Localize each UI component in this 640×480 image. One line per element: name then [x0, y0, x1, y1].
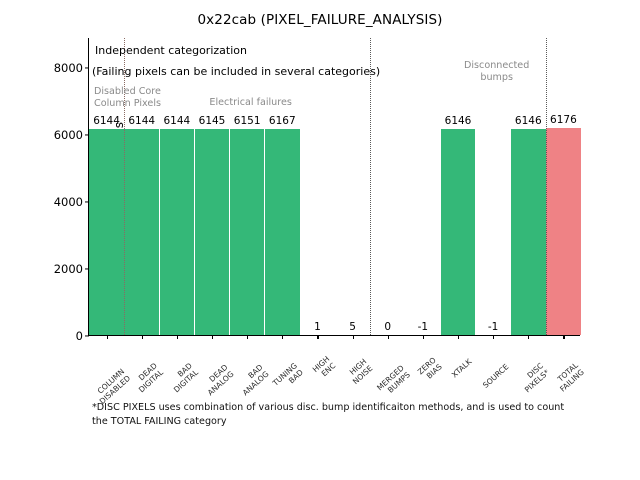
- x-tick-label: MERGEDBUMPS: [376, 364, 413, 399]
- bar-value-label: 6144: [163, 115, 190, 127]
- bar-value-label: 6146: [445, 115, 472, 127]
- bar-disc-pixels[interactable]: [511, 129, 546, 335]
- footnote-line-1: *DISC PIXELS uses combination of various…: [92, 402, 495, 413]
- x-tick-mark: [493, 335, 494, 339]
- y-tick-label: 4000: [54, 195, 89, 209]
- chart-title: 0x22cab (PIXEL_FAILURE_ANALYSIS): [0, 12, 640, 28]
- bar-dead-digital[interactable]: [124, 129, 159, 335]
- bar-value-label: 0: [384, 321, 391, 333]
- x-tick-label-line: XTALK: [451, 358, 474, 380]
- annotation-group-disabled-core-line: Column Pixels: [94, 98, 161, 110]
- x-tick-label: DEADANALOG: [200, 363, 236, 398]
- bar-value-label: 6146: [515, 115, 542, 127]
- annotation-group-disabled-core-line: Disabled Core: [94, 86, 161, 98]
- y-tick-label: 6000: [54, 128, 89, 142]
- x-tick-label: BADANALOG: [236, 363, 272, 398]
- x-tick-mark: [563, 335, 564, 339]
- annotation-headline-1: Independent categorization: [95, 44, 247, 57]
- annotation-group-disabled-core: Disabled CoreColumn Pixels: [94, 86, 161, 109]
- y-tick-label: 8000: [54, 61, 89, 75]
- x-tick-label: BADDIGITAL: [166, 362, 200, 395]
- x-tick-label: SOURCE: [482, 363, 511, 391]
- bar-xtalk[interactable]: [441, 129, 476, 335]
- x-tick-mark: [528, 335, 529, 339]
- annotation-group-disconnected-line: bumps: [464, 72, 529, 84]
- x-tick-mark: [353, 335, 354, 339]
- bar-tuning-bad[interactable]: [265, 129, 300, 335]
- x-tick-label: XTALK: [451, 358, 474, 380]
- x-tick-mark: [212, 335, 213, 339]
- bar-value-label: 6144: [128, 115, 155, 127]
- x-tick-mark: [423, 335, 424, 339]
- bar-bad-analog[interactable]: [230, 129, 265, 335]
- y-tick-label: 0: [76, 329, 89, 343]
- bar-dead-analog[interactable]: [195, 129, 230, 335]
- bar-value-label: -1: [488, 321, 498, 333]
- x-tick-mark: [247, 335, 248, 339]
- bar-value-label: -1: [418, 321, 428, 333]
- x-tick-label: TOTALFAILING: [553, 361, 587, 394]
- y-tick-label: 2000: [54, 262, 89, 276]
- divider-disconnected: [546, 38, 547, 335]
- annotation-group-disconnected: Disconnectedbumps: [464, 60, 529, 83]
- bar-bad-digital[interactable]: [160, 129, 195, 335]
- x-tick-label: DEADDIGITAL: [131, 362, 165, 395]
- annotation-group-disconnected-line: Disconnected: [464, 60, 529, 72]
- divider-disabled-core: [124, 38, 125, 335]
- x-tick-label: TUNINGBAD: [272, 362, 306, 395]
- bar-value-label: 6145: [199, 115, 226, 127]
- bar-value-label: 6176: [550, 114, 577, 126]
- x-tick-label: HIGHENC: [312, 355, 339, 381]
- x-tick-mark: [458, 335, 459, 339]
- annotation-headline-2: (Failing pixels can be included in sever…: [92, 65, 380, 78]
- figure-canvas: 0x22cab (PIXEL_FAILURE_ANALYSIS) Number …: [0, 0, 640, 480]
- plot-inner: 020004000600080006144COLUMNDISABLED6144D…: [89, 38, 580, 335]
- bar-value-label: 6144: [93, 115, 120, 127]
- x-tick-label: ZEROBIAS: [417, 356, 445, 384]
- annotation-group-electrical-line: Electrical failures: [209, 97, 291, 109]
- x-tick-mark: [317, 335, 318, 339]
- x-tick-label-line: SOURCE: [482, 363, 511, 391]
- x-tick-label: DISCPIXELS*: [518, 362, 552, 395]
- x-tick-label: HIGHNOISE: [345, 358, 374, 387]
- x-tick-mark: [107, 335, 108, 339]
- x-tick-mark: [282, 335, 283, 339]
- bar-value-label: 6167: [269, 115, 296, 127]
- bar-value-label: 5: [349, 321, 356, 333]
- x-tick-mark: [177, 335, 178, 339]
- bar-value-label: 6151: [234, 115, 261, 127]
- bar-value-label: 1: [314, 321, 321, 333]
- annotation-group-electrical: Electrical failures: [209, 97, 291, 109]
- divider-electrical: [370, 38, 371, 335]
- chart-footnote: *DISC PIXELS uses combination of various…: [92, 401, 572, 429]
- bar-column-disabled[interactable]: [89, 129, 124, 335]
- bar-total-failing[interactable]: [546, 128, 581, 335]
- x-tick-mark: [388, 335, 389, 339]
- x-tick-mark: [142, 335, 143, 339]
- plot-area: Number of pixels 020004000600080006144CO…: [88, 38, 580, 336]
